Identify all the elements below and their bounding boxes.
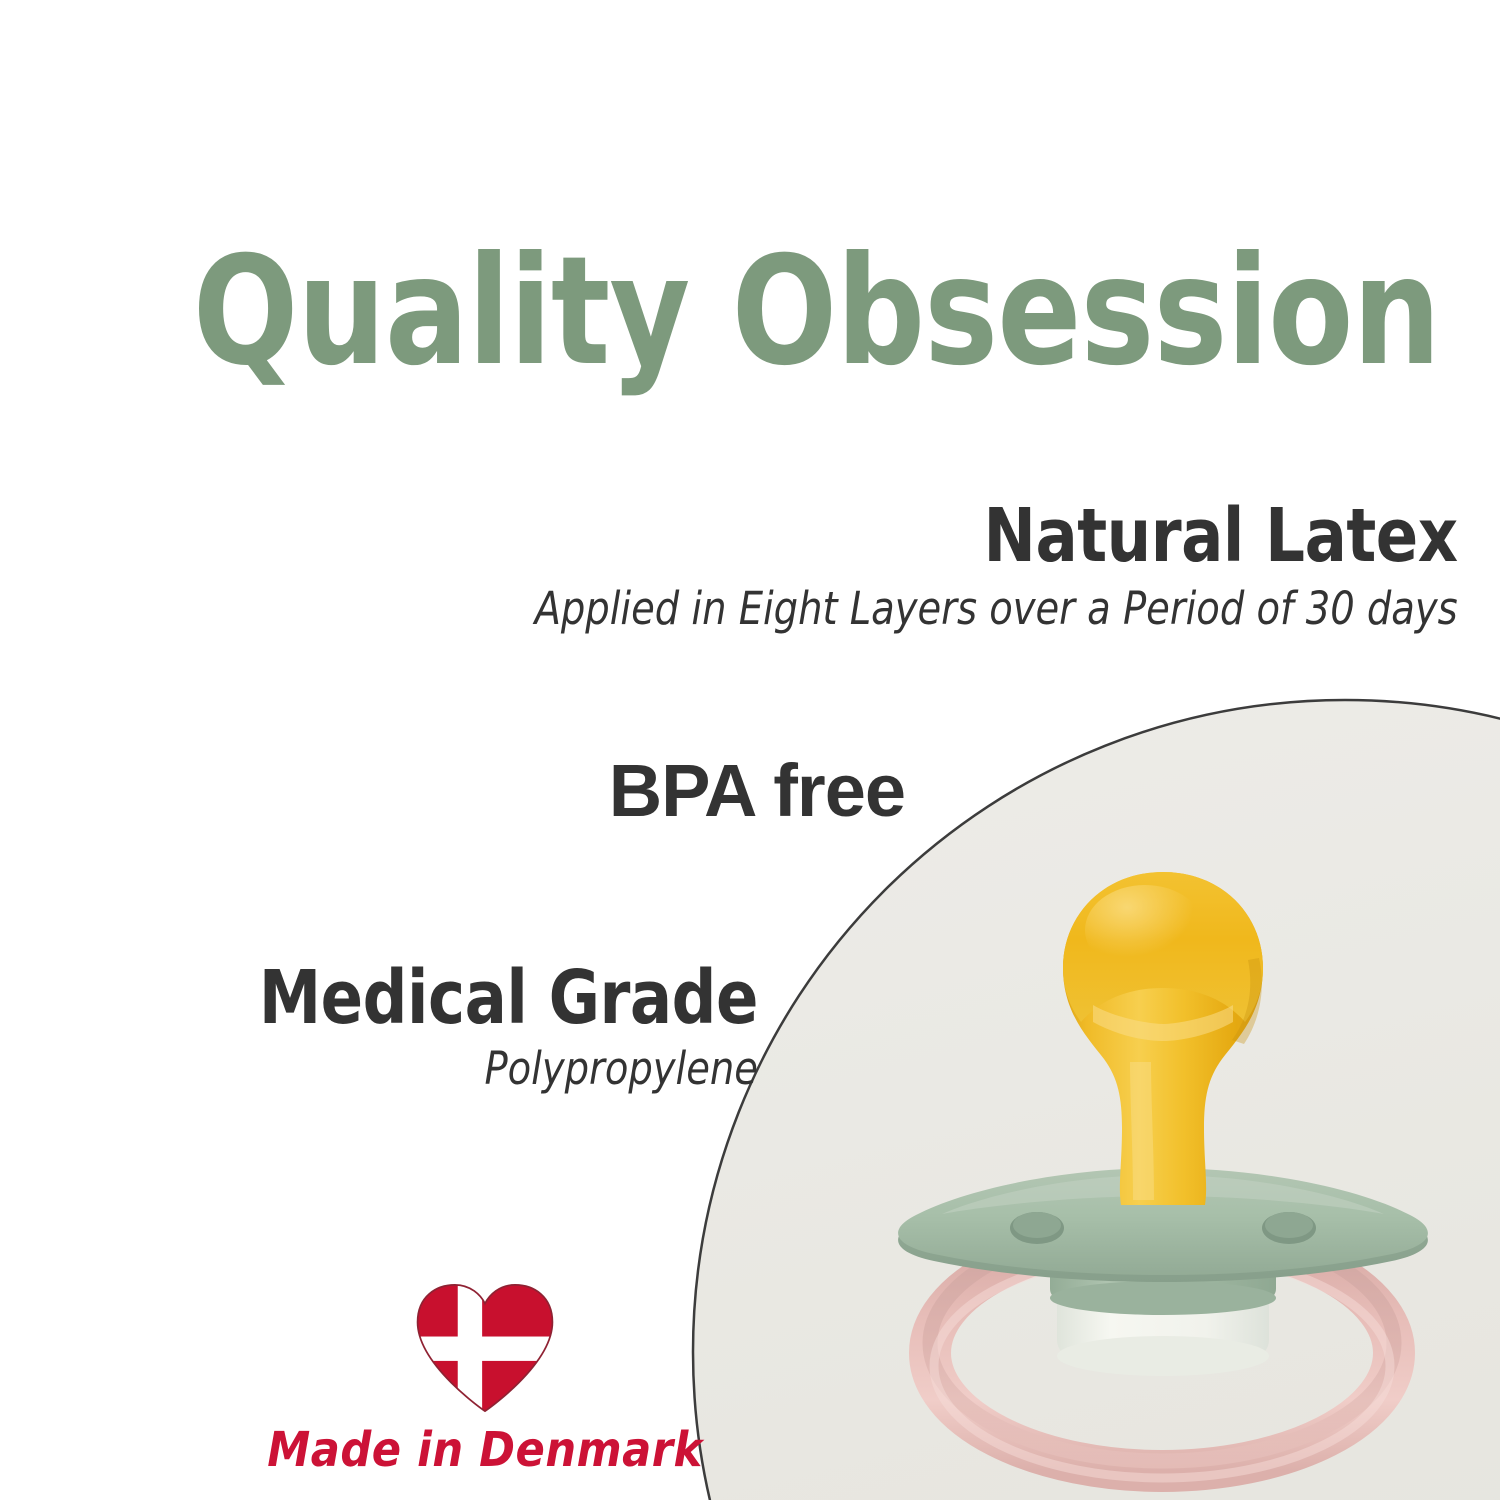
pacifier-handle-ring bbox=[930, 1225, 1394, 1478]
page-title: Quality Obsession bbox=[115, 237, 1440, 387]
feature-subtitle: Polypropylene bbox=[254, 1044, 758, 1094]
feature-title: Medical Grade bbox=[259, 960, 758, 1038]
pacifier-latex-nipple bbox=[1063, 872, 1263, 1205]
denmark-flag-heart-icon bbox=[412, 1282, 558, 1414]
pacifier-shield bbox=[898, 1168, 1428, 1282]
pacifier-white-band bbox=[1057, 1280, 1269, 1376]
feature-natural-latex: Natural Latex Applied in Eight Layers ov… bbox=[486, 498, 1458, 633]
shield-vent-holes bbox=[1010, 1212, 1316, 1244]
feature-medical-grade: Medical Grade Polypropylene bbox=[227, 960, 758, 1093]
feature-bpa-free: BPA free bbox=[609, 752, 905, 830]
feature-subtitle: Applied in Eight Layers over a Period of… bbox=[535, 584, 1458, 634]
made-in-denmark-badge: Made in Denmark bbox=[250, 1282, 720, 1478]
made-in-denmark-label: Made in Denmark bbox=[250, 1422, 720, 1478]
feature-title: Natural Latex bbox=[545, 498, 1458, 576]
product-feature-graphic: Quality Obsession Natural Latex Applied … bbox=[0, 0, 1500, 1500]
pacifier-illustration bbox=[898, 872, 1428, 1478]
pacifier-collar bbox=[1050, 1237, 1276, 1315]
feature-title: BPA free bbox=[609, 752, 905, 830]
